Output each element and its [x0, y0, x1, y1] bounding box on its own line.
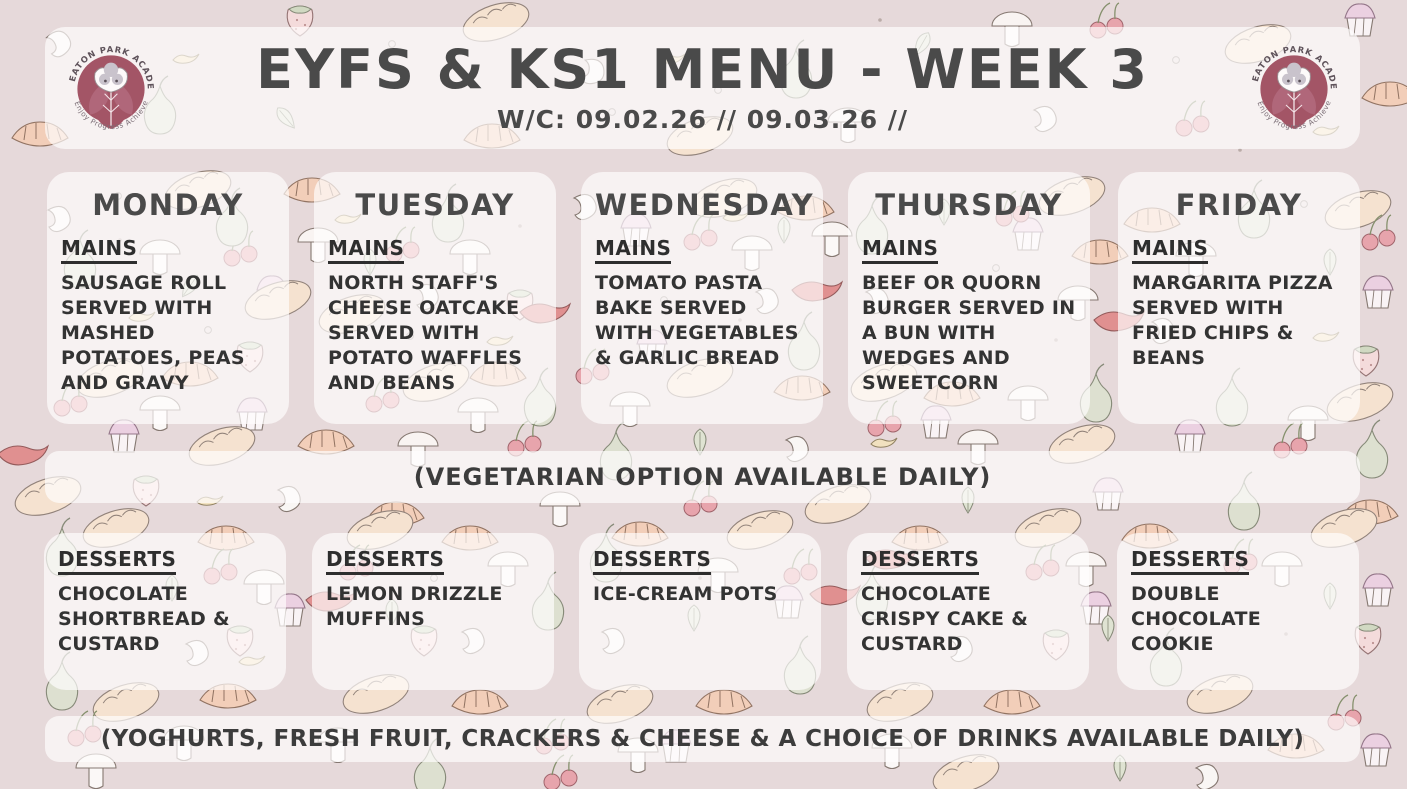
- mains-label-friday: MAINS: [1132, 236, 1208, 264]
- desserts-label-friday: DESSERTS: [1131, 547, 1249, 575]
- dessert-card-wednesday: DESSERTS ICE-CREAM POTS: [579, 533, 821, 690]
- day-card-thursday: THURSDAY MAINS BEEF OR QUORN BURGER SERV…: [848, 172, 1090, 424]
- main-item-wednesday: TOMATO PASTA BAKE SERVED WITH VEGETABLES…: [595, 271, 809, 371]
- mains-label-wednesday: MAINS: [595, 236, 671, 264]
- dessert-card-monday: DESSERTS CHOCOLATE SHORTBREAD & CUSTARD: [44, 533, 286, 690]
- extras-banner: (YOGHURTS, FRESH FRUIT, CRACKERS & CHEES…: [45, 716, 1360, 762]
- header-card: EATON PARK ACADEMY Enjoy Progress Achiev…: [45, 27, 1360, 149]
- dessert-item-tuesday: LEMON DRIZZLE MUFFINS: [326, 582, 540, 632]
- header-text-block: EYFS & KS1 MENU - WEEK 3 W/C: 09.02.26 /…: [175, 27, 1230, 149]
- desserts-label-thursday: DESSERTS: [861, 547, 979, 575]
- day-card-monday: MONDAY MAINS SAUSAGE ROLL SERVED WITH MA…: [47, 172, 289, 424]
- main-item-friday: MARGARITA PIZZA SERVED WITH FRIED CHIPS …: [1132, 271, 1346, 371]
- desserts-label-wednesday: DESSERTS: [593, 547, 711, 575]
- page-title: EYFS & KS1 MENU - WEEK 3: [256, 42, 1149, 99]
- dessert-item-thursday: CHOCOLATE CRISPY CAKE & CUSTARD: [861, 582, 1075, 657]
- desserts-row: DESSERTS CHOCOLATE SHORTBREAD & CUSTARD …: [0, 533, 1407, 690]
- week-commencing-subtitle: W/C: 09.02.26 // 09.03.26 //: [497, 105, 908, 134]
- dessert-card-tuesday: DESSERTS LEMON DRIZZLE MUFFINS: [312, 533, 554, 690]
- dessert-item-friday: DOUBLE CHOCOLATE COOKIE: [1131, 582, 1345, 657]
- vegetarian-banner: (VEGETARIAN OPTION AVAILABLE DAILY): [45, 451, 1360, 503]
- day-card-friday: FRIDAY MAINS MARGARITA PIZZA SERVED WITH…: [1118, 172, 1360, 424]
- menu-poster: EATON PARK ACADEMY Enjoy Progress Achiev…: [0, 0, 1407, 789]
- main-item-thursday: BEEF OR QUORN BURGER SERVED IN A BUN WIT…: [862, 271, 1076, 396]
- day-name-monday: MONDAY: [61, 188, 275, 222]
- main-item-monday: SAUSAGE ROLL SERVED WITH MASHED POTATOES…: [61, 271, 275, 396]
- day-card-wednesday: WEDNESDAY MAINS TOMATO PASTA BAKE SERVED…: [581, 172, 823, 424]
- mains-row: MONDAY MAINS SAUSAGE ROLL SERVED WITH MA…: [0, 172, 1407, 424]
- extras-banner-text: (YOGHURTS, FRESH FRUIT, CRACKERS & CHEES…: [101, 726, 1305, 752]
- day-card-tuesday: TUESDAY MAINS NORTH STAFF'S CHEESE OATCA…: [314, 172, 556, 424]
- mains-label-thursday: MAINS: [862, 236, 938, 264]
- day-name-wednesday: WEDNESDAY: [595, 188, 809, 222]
- desserts-label-monday: DESSERTS: [58, 547, 176, 575]
- main-item-tuesday: NORTH STAFF'S CHEESE OATCAKE SERVED WITH…: [328, 271, 542, 396]
- dessert-item-wednesday: ICE-CREAM POTS: [593, 582, 807, 607]
- day-name-friday: FRIDAY: [1132, 188, 1346, 222]
- dessert-card-friday: DESSERTS DOUBLE CHOCOLATE COOKIE: [1117, 533, 1359, 690]
- vegetarian-banner-text: (VEGETARIAN OPTION AVAILABLE DAILY): [414, 463, 992, 491]
- school-logo-left: EATON PARK ACADEMY Enjoy Progress Achiev…: [63, 41, 159, 137]
- desserts-label-tuesday: DESSERTS: [326, 547, 444, 575]
- dessert-item-monday: CHOCOLATE SHORTBREAD & CUSTARD: [58, 582, 272, 657]
- mains-label-monday: MAINS: [61, 236, 137, 264]
- dessert-card-thursday: DESSERTS CHOCOLATE CRISPY CAKE & CUSTARD: [847, 533, 1089, 690]
- school-logo-right: EATON PARK ACADEMY Enjoy Progress Achiev…: [1246, 41, 1342, 137]
- mains-label-tuesday: MAINS: [328, 236, 404, 264]
- day-name-thursday: THURSDAY: [862, 188, 1076, 222]
- day-name-tuesday: TUESDAY: [328, 188, 542, 222]
